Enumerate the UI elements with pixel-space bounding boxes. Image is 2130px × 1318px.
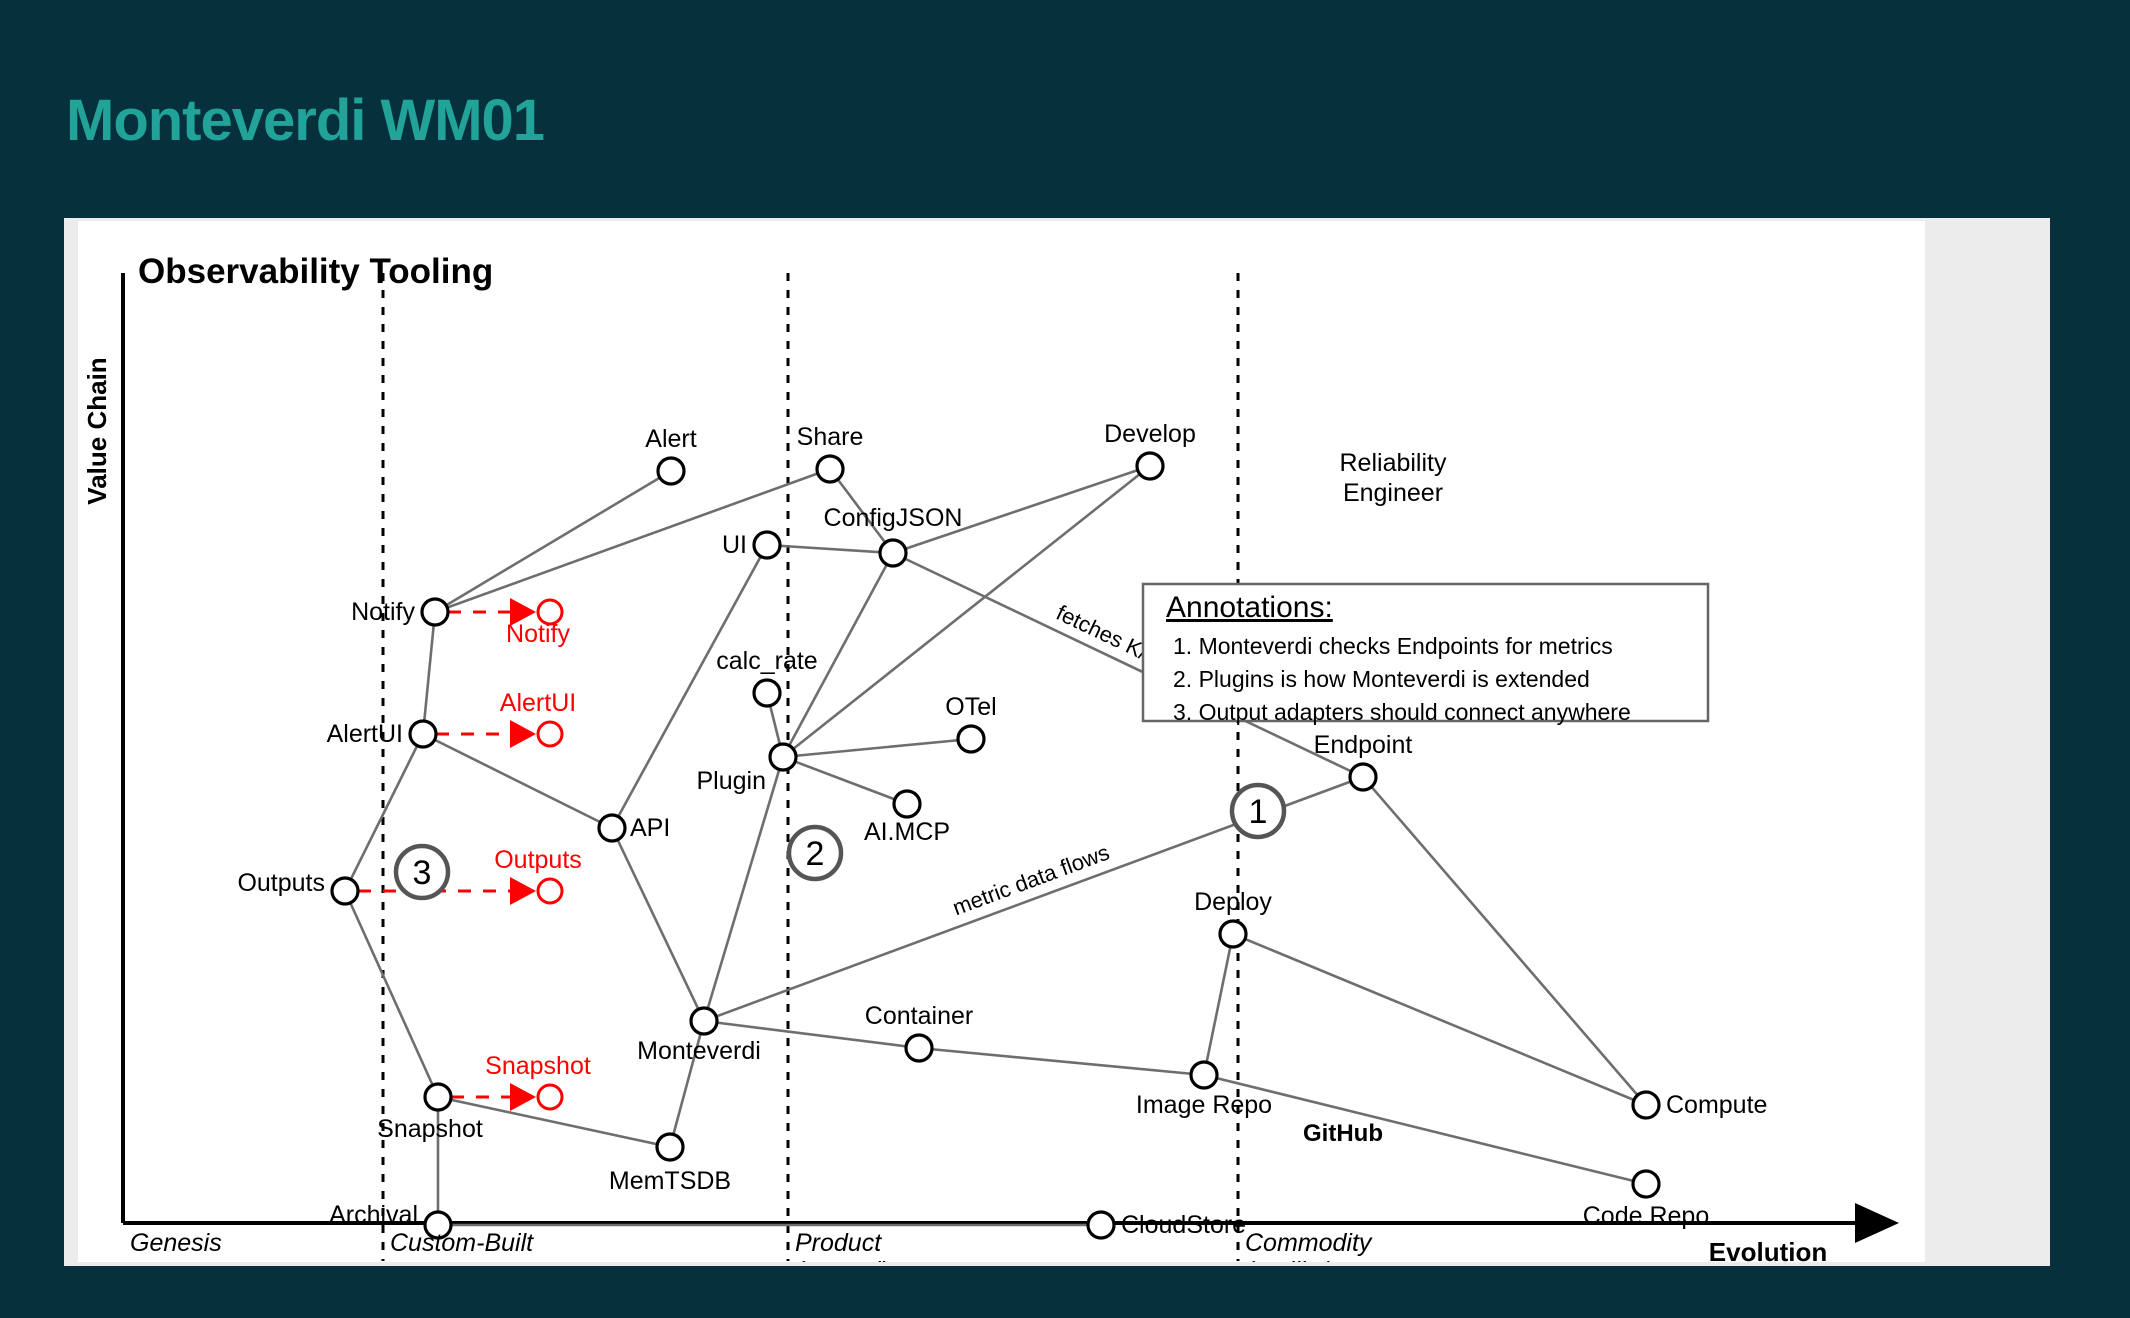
evolution-axis-label: Evolution [1709, 1237, 1827, 1262]
evolution-stage-label-2: Product [795, 1229, 882, 1257]
node-circle[interactable] [754, 680, 780, 706]
node-circle[interactable] [1191, 1062, 1217, 1088]
value-chain-axis-label: Value Chain [82, 357, 112, 504]
map-title: Observability Tooling [138, 252, 493, 291]
node-label: Develop [1104, 420, 1196, 448]
node-label: ConfigJSON [824, 504, 963, 532]
map-node-aimcp[interactable]: AI.MCP [864, 791, 950, 846]
node-circle[interactable] [332, 878, 358, 904]
node-circle[interactable] [894, 791, 920, 817]
numbered-markers-layer: 123 [396, 785, 1284, 898]
map-node-deploy[interactable]: Deploy [1194, 888, 1272, 947]
map-edge [423, 734, 612, 828]
slide-card-frame: Value Chain Evolution Observability Tool… [64, 218, 2050, 1266]
map-edge [704, 757, 783, 1021]
node-circle[interactable] [1633, 1092, 1659, 1118]
evolution-stage-sublabel-3: (+utility) [1245, 1257, 1333, 1262]
node-circle[interactable] [425, 1084, 451, 1110]
map-node-alertui[interactable]: AlertUI [327, 720, 436, 748]
numbered-marker-label: 3 [413, 854, 432, 892]
map-node-develop[interactable]: Develop [1104, 420, 1196, 479]
map-edge [612, 828, 704, 1021]
snapshot-evolve[interactable]: Snapshot [451, 1052, 591, 1111]
annotations-box: Annotations: 1. Monteverdi checks Endpoi… [1143, 584, 1708, 725]
map-edge [1204, 934, 1233, 1075]
map-node-alert[interactable]: Alert [645, 425, 696, 484]
node-label: MemTSDB [609, 1167, 731, 1195]
node-circle[interactable] [1350, 764, 1376, 790]
map-node-otel[interactable]: OTel [945, 693, 996, 752]
node-circle[interactable] [422, 599, 448, 625]
numbered-marker-2: 2 [789, 827, 841, 879]
map-edge [1363, 777, 1646, 1105]
evolution-stage-label-3: Commodity [1245, 1229, 1373, 1257]
outputs-evolve[interactable]: Outputs [358, 846, 582, 905]
map-edge [783, 757, 907, 804]
node-label: Alert [645, 425, 696, 453]
node-label: API [630, 814, 670, 842]
node-circle[interactable] [770, 744, 796, 770]
node-circle[interactable] [817, 456, 843, 482]
extra-labels-layer: ReliabilityEngineerGitHub [1303, 449, 1447, 1147]
map-node-compute[interactable]: Compute [1633, 1091, 1767, 1119]
node-label: Image Repo [1136, 1091, 1272, 1119]
node-circle[interactable] [1633, 1171, 1659, 1197]
map-canvas: Value Chain Evolution Observability Tool… [78, 221, 1925, 1262]
evolve-arrow-icon [510, 1083, 536, 1111]
node-circle[interactable] [1088, 1212, 1114, 1238]
node-label: Plugin [697, 767, 767, 795]
node-label: Monteverdi [637, 1037, 761, 1065]
evolve-arrow-icon [510, 877, 536, 905]
node-circle[interactable] [1137, 453, 1163, 479]
map-edge [919, 1048, 1204, 1075]
map-edge [423, 612, 435, 734]
node-label: Archival [329, 1201, 418, 1229]
node-label: Snapshot [377, 1115, 483, 1143]
node-label: Notify [351, 598, 415, 626]
map-node-calc_rate[interactable]: calc_rate [716, 647, 817, 706]
map-edge [767, 545, 893, 553]
slide-title: Monteverdi WM01 [66, 92, 544, 150]
numbered-marker-label: 2 [806, 835, 825, 873]
evolve-label: Outputs [494, 846, 582, 874]
reliability-engineer-line1: Reliability [1340, 449, 1447, 477]
node-circle[interactable] [658, 458, 684, 484]
node-label: AlertUI [327, 720, 403, 748]
annotations-title: Annotations: [1166, 591, 1333, 624]
node-circle[interactable] [691, 1008, 717, 1034]
map-node-monteverdi[interactable]: Monteverdi [637, 1008, 761, 1065]
map-edge [435, 471, 671, 612]
node-label: UI [722, 531, 747, 559]
numbered-marker-1: 1 [1232, 785, 1284, 837]
node-circle[interactable] [754, 532, 780, 558]
node-circle[interactable] [958, 726, 984, 752]
map-node-api[interactable]: API [599, 814, 670, 842]
node-label: Container [865, 1002, 973, 1030]
evolve-label: Notify [506, 620, 570, 648]
nodes-layer[interactable]: AlertShareDevelopConfigJSONUINotifycalc_… [237, 420, 1767, 1239]
numbered-marker-label: 1 [1249, 793, 1268, 831]
node-label: AI.MCP [864, 818, 950, 846]
map-node-memtsdb[interactable]: MemTSDB [609, 1134, 731, 1195]
annotation-item-1: 1. Monteverdi checks Endpoints for metri… [1173, 633, 1613, 659]
node-circle[interactable] [410, 721, 436, 747]
node-label: calc_rate [716, 647, 817, 675]
map-node-coderepo[interactable]: Code Repo [1583, 1171, 1709, 1230]
alertui-evolve[interactable]: AlertUI [436, 689, 576, 748]
node-circle[interactable] [880, 540, 906, 566]
map-node-snapshot[interactable]: Snapshot [377, 1084, 483, 1143]
node-circle[interactable] [657, 1134, 683, 1160]
evolve-label: Snapshot [485, 1052, 591, 1080]
map-node-plugin[interactable]: Plugin [697, 744, 797, 795]
evolve-arrow-icon [510, 720, 536, 748]
node-label: Code Repo [1583, 1202, 1709, 1230]
map-edge [345, 891, 438, 1097]
evolution-stage-label-1: Custom-Built [390, 1229, 534, 1257]
github-label: GitHub [1303, 1120, 1383, 1147]
node-circle[interactable] [599, 815, 625, 841]
annotation-item-3: 3. Output adapters should connect anywhe… [1173, 699, 1631, 725]
reliability-engineer-line2: Engineer [1343, 479, 1443, 507]
node-label: OTel [945, 693, 996, 721]
node-circle[interactable] [1220, 921, 1246, 947]
node-label: Endpoint [1314, 731, 1413, 759]
map-node-ui[interactable]: UI [722, 531, 780, 559]
map-edge [783, 739, 971, 757]
node-label: Compute [1666, 1091, 1767, 1119]
evolution-stage-sublabel-2: (+rental) [795, 1257, 889, 1262]
map-node-configjson[interactable]: ConfigJSON [824, 504, 963, 566]
evolution-stage-label-0: Genesis [130, 1229, 222, 1257]
node-circle[interactable] [906, 1035, 932, 1061]
evolve-markers-layer: NotifyAlertUIOutputsSnapshot [358, 598, 591, 1111]
map-node-outputs[interactable]: Outputs [237, 869, 358, 904]
map-node-share[interactable]: Share [797, 423, 864, 482]
map-edge [1233, 934, 1646, 1105]
notify-evolve[interactable]: Notify [448, 598, 570, 648]
annotation-item-2: 2. Plugins is how Monteverdi is extended [1173, 666, 1590, 692]
node-label: Share [797, 423, 864, 451]
numbered-marker-3: 3 [396, 846, 448, 898]
slide-root: Monteverdi WM01 [0, 0, 2130, 1318]
map-node-notify[interactable]: Notify [351, 598, 448, 626]
node-label: CloudStore [1121, 1211, 1246, 1239]
map-node-cloudstore[interactable]: CloudStore [1088, 1211, 1246, 1239]
node-label: Deploy [1194, 888, 1272, 916]
node-label: Outputs [237, 869, 325, 897]
evolve-label: AlertUI [500, 689, 576, 717]
wardley-map-svg[interactable]: Value Chain Evolution Observability Tool… [78, 221, 1925, 1262]
